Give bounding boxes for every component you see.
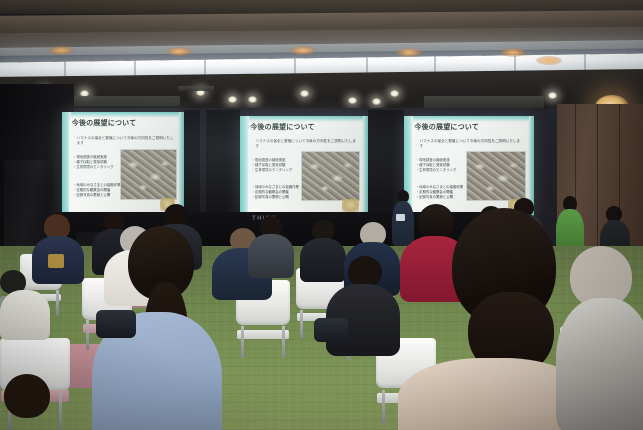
attendee-foreground-right — [556, 246, 643, 430]
ceiling-vent — [424, 96, 544, 108]
warm-ceiling-glow — [48, 46, 74, 55]
warm-ceiling-glow — [396, 48, 422, 57]
slide-photo-rocky-ground — [301, 151, 361, 201]
recessed-downlight — [300, 90, 309, 97]
ceiling-vent — [60, 96, 180, 106]
bag-on-floor — [314, 318, 348, 342]
attendee-grey-hoodie — [248, 216, 294, 276]
recessed-downlight — [372, 98, 381, 105]
recessed-downlight — [248, 96, 257, 103]
slide-lead: ハマナスの保全と繁殖について今後の方向性をご説明いたします — [420, 139, 524, 149]
recessed-downlight — [548, 92, 557, 99]
screen-divider-gap — [206, 110, 240, 220]
warm-ceiling-glow — [536, 56, 562, 65]
warm-ceiling-glow — [290, 46, 316, 55]
recessed-downlight — [228, 96, 237, 103]
recessed-downlight — [390, 90, 399, 97]
slide-title: 今後の展望について — [72, 118, 137, 128]
warm-ceiling-glow — [166, 47, 192, 56]
ceiling-vent — [178, 86, 214, 91]
slide-title: 今後の展望について — [414, 122, 479, 132]
slide-photo-rocky-ground — [120, 149, 177, 201]
seminar-room-photo: 今後の展望について ハマナスの保全と繁殖について今後の方向性をご説明いたします … — [0, 0, 643, 430]
slide-lead: ハマナスの保全と繁殖について今後の方向性をご説明いたします — [77, 136, 175, 146]
slide-lead: ハマナスの保全と繁殖について今後の方向性をご説明いたします — [255, 139, 357, 149]
attendee-left-edge — [0, 270, 50, 336]
slide-photo-rocky-ground — [466, 151, 527, 201]
warm-ceiling-glow — [500, 48, 526, 57]
recessed-downlight — [348, 97, 357, 104]
slide-title: 今後の展望について — [250, 122, 315, 132]
backpack-on-floor — [96, 310, 136, 338]
projection-screen-center: 今後の展望について ハマナスの保全と繁殖について今後の方向性をご説明いたします … — [240, 116, 368, 220]
attendee-bottom-left — [0, 362, 70, 430]
slide-mascot-logo-icon — [342, 199, 359, 211]
slide-center: 今後の展望について ハマナスの保全と繁殖について今後の方向性をご説明いたします … — [240, 116, 368, 220]
